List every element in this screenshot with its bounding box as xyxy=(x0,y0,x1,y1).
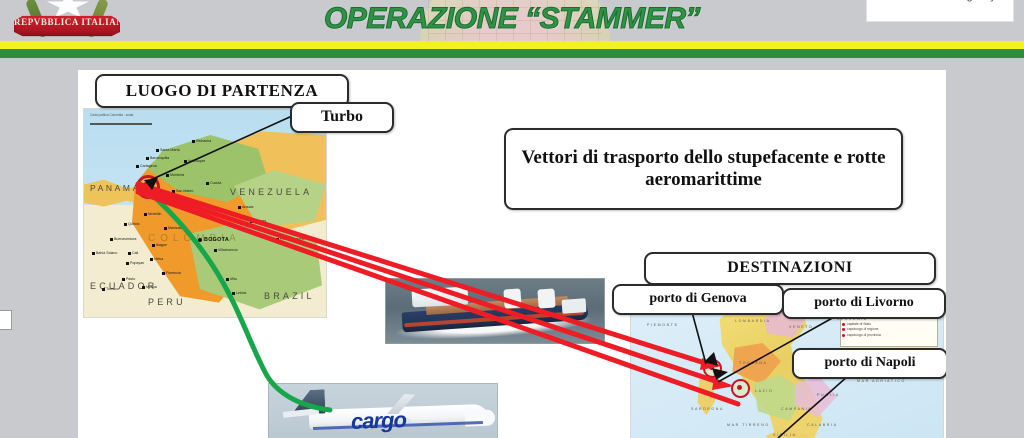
callout-luogo-di-partenza-label: LUOGO DI PARTENZA xyxy=(126,81,319,101)
colombia-map-country-venezuela: VENEZUELA xyxy=(230,187,312,197)
italy-map-legend-item: capoluogo di regione xyxy=(847,327,937,331)
italy-map-legend-item: capoluogo di provincia xyxy=(847,333,937,337)
ship-bridge xyxy=(412,287,469,308)
colombia-map-city: Riohacha xyxy=(196,139,211,143)
colombia-map-country-brazil: BRAZIL xyxy=(264,291,315,301)
colombia-map-city: Tumaco xyxy=(106,287,119,291)
italy-map-region-label: MAR TIRRENO xyxy=(727,423,770,427)
colombia-map-city: Bahia Solano xyxy=(96,251,117,255)
colombia-map-city: Quibdo xyxy=(128,222,140,226)
colombia-map-city: Medellin xyxy=(148,212,161,216)
colombia-map-city: Leticia xyxy=(236,291,246,295)
colombia-map-city: Santa Marta xyxy=(160,148,180,152)
ship-crane xyxy=(537,288,555,308)
colombia-map-city: Ibague xyxy=(156,243,167,247)
colombia-map-city: Florencia xyxy=(166,271,181,275)
callout-porto-di-genova-label: porto di Genova xyxy=(649,291,746,308)
scroll-handle[interactable] xyxy=(0,310,12,330)
colombia-map-city: Cucuta xyxy=(210,181,221,185)
colombia-map-city: Arauca xyxy=(242,205,253,209)
italy-map-region-label: LAZIO xyxy=(755,389,773,393)
colombia-map-country-panama: PANAMA xyxy=(90,183,141,193)
colombia-map-city: Villavicencio xyxy=(218,248,238,252)
callout-porto-di-genova[interactable]: porto di Genova xyxy=(612,284,784,315)
italy-map-region-label: PUGLIA xyxy=(817,393,840,397)
colombia-map-city: Pasto xyxy=(126,277,135,281)
callout-destinazioni-label: DESTINAZIONI xyxy=(727,259,852,278)
divider-stripe-green xyxy=(0,49,1024,58)
callout-porto-di-napoli[interactable]: porto di Napoli xyxy=(792,348,946,379)
colombia-map-city: Neiva xyxy=(154,257,163,261)
ship-crane xyxy=(503,288,521,308)
cargo-ship-photo xyxy=(385,278,605,344)
genova-port-marker xyxy=(703,359,722,378)
slide-canvas: Carta politica Colombia - scala PANAMA V… xyxy=(78,70,946,438)
italy-map-region-label: LOMBARDIA xyxy=(735,319,771,323)
italy-map-region-label: SARDEGNA xyxy=(691,407,724,411)
italy-map-region-label: SICILIA xyxy=(773,433,797,437)
colombia-map-scalebar xyxy=(90,123,152,125)
colombia-map-city: San Mateo xyxy=(176,189,193,193)
livorno-port-marker xyxy=(731,379,750,398)
callout-turbo[interactable]: Turbo xyxy=(290,102,394,133)
italy-map-region-label: TOSCANA xyxy=(739,361,768,365)
turbo-location-marker xyxy=(136,175,160,199)
colombia-map-city: Monteria xyxy=(170,173,184,177)
colombia-map-city: Popayan xyxy=(130,261,144,265)
callout-destinazioni[interactable]: DESTINAZIONI xyxy=(644,252,936,285)
colombia-map-caption: Carta politica Colombia - scala xyxy=(90,113,133,117)
callout-porto-di-livorno[interactable]: porto di Livorno xyxy=(782,288,946,319)
colombia-map-city: Buenaventura xyxy=(114,237,136,241)
colombia-map-country-peru: PERU xyxy=(148,297,186,307)
colombia-map-city: Barranquilla xyxy=(150,156,169,160)
screenshot-stage: REPVBBLICA ITALIANA OPERAZIONE “STAMMER”… xyxy=(0,0,1024,438)
divider-stripe-yellow xyxy=(0,41,1024,49)
callout-porto-di-napoli-label: porto di Napoli xyxy=(824,355,915,372)
callout-turbo-label: Turbo xyxy=(321,108,363,127)
italy-map-region-label: CALABRIA xyxy=(807,423,838,427)
colombia-map-city: Mocoa xyxy=(146,285,157,289)
colombia-map-city: Puerto Carreno xyxy=(280,237,305,241)
airplane-livery-text: cargo xyxy=(351,407,407,435)
national-crime-agency-label: National Crime Agency xyxy=(867,0,1013,2)
callout-porto-di-livorno-label: porto di Livorno xyxy=(814,295,914,312)
colombia-map-city: Cartagena xyxy=(140,164,157,168)
colombia-map: Carta politica Colombia - scala PANAMA V… xyxy=(83,108,327,318)
callout-vettori-label: Vettori di trasporto dello stupefacente … xyxy=(516,147,891,192)
colombia-map-city: Valledupar xyxy=(188,159,205,163)
cargo-airplane-photo: cargo xyxy=(268,383,498,438)
italy-map-region-label: CAMPANIA xyxy=(781,407,812,411)
colombia-map-city: Mitu xyxy=(230,277,237,281)
colombia-map-city: Cali xyxy=(132,251,138,255)
colombia-map-capital: BOGOTA xyxy=(204,237,229,243)
national-crime-agency-logo: National Crime Agency xyxy=(866,0,1014,22)
italy-map-region-label: MAR ADRIATICO xyxy=(857,379,906,383)
italy-map-region-label: PIEMONTE xyxy=(647,323,679,327)
italy-map-legend-item: capitale di Stato xyxy=(847,322,937,326)
colombia-map-city: Barinas xyxy=(254,219,266,223)
callout-vettori-di-trasporto[interactable]: Vettori di trasporto dello stupefacente … xyxy=(504,128,903,210)
colombia-map-city: Manizales xyxy=(168,226,184,230)
ship-stern-house xyxy=(562,298,587,314)
italy-map-region-label: VENETO xyxy=(789,325,813,329)
